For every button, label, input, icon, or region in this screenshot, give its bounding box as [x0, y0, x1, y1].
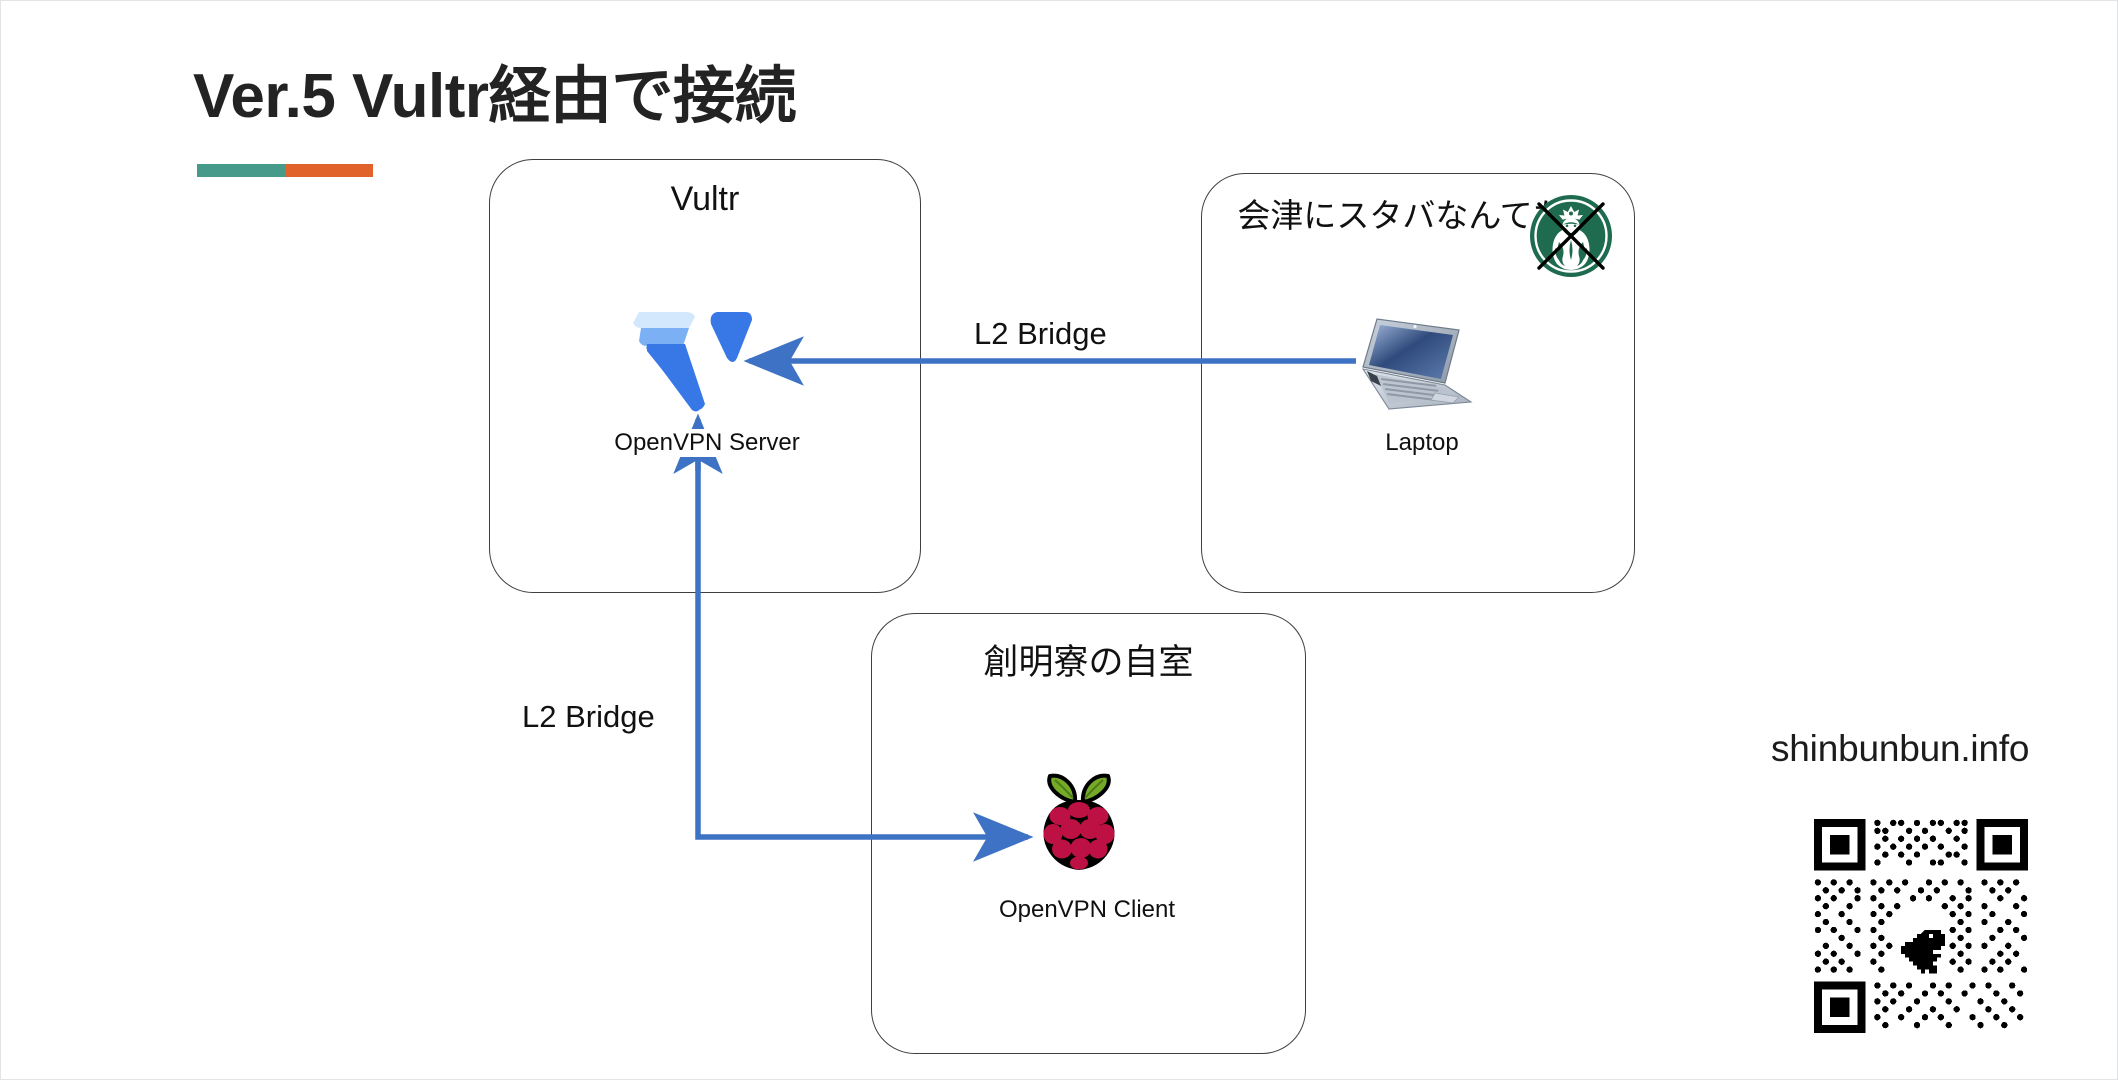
raspberry-pi-logo-icon [1033, 766, 1125, 878]
node-label-openvpn-server: OpenVPN Server [576, 429, 838, 457]
node-label-laptop: Laptop [1316, 429, 1528, 457]
connector-server-to-client [698, 441, 1028, 837]
link-label-upper: L2 Bridge [966, 316, 1115, 352]
vultr-logo-icon [631, 304, 757, 414]
node-label-openvpn-client: OpenVPN Client [966, 896, 1208, 924]
slide-canvas: Ver.5 Vultr経由で接続 Vultr 会津にスタバなんてない 創明寮の自… [0, 0, 2118, 1080]
laptop-icon [1349, 309, 1479, 414]
link-label-lower: L2 Bridge [514, 699, 663, 735]
starbucks-crossed-out-icon [1529, 194, 1613, 278]
